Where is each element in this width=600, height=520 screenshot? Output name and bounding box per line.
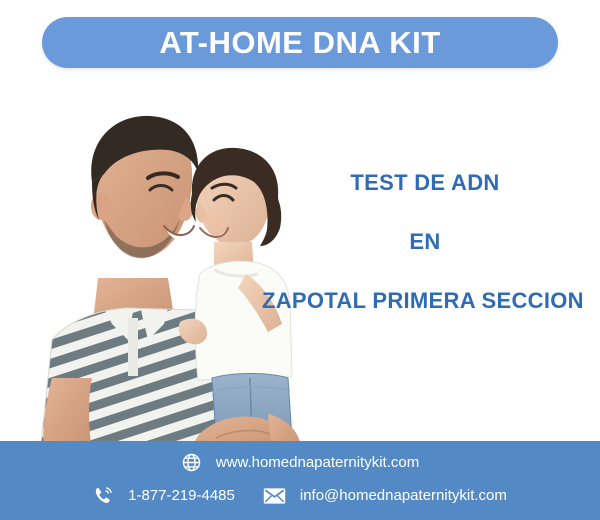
headline-block: TEST DE ADN EN ZAPOTAL PRIMERA SECCION <box>250 160 600 320</box>
headline-line-1: TEST DE ADN <box>250 170 600 196</box>
globe-icon <box>181 452 202 473</box>
website-text: www.homednapaternitykit.com <box>216 454 419 471</box>
banner-title: AT-HOME DNA KIT <box>159 25 440 61</box>
envelope-icon <box>263 487 286 505</box>
family-photo <box>0 78 300 453</box>
footer-website-row: www.homednapaternitykit.com <box>0 452 600 473</box>
phone-text: 1-877-219-4485 <box>128 487 235 504</box>
headline-line-3: ZAPOTAL PRIMERA SECCION <box>262 288 584 314</box>
email-item[interactable]: info@homednapaternitykit.com <box>263 487 507 505</box>
flyer-canvas: AT-HOME DNA KIT <box>0 0 600 520</box>
phone-item[interactable]: 1-877-219-4485 <box>93 485 235 506</box>
contact-footer: www.homednapaternitykit.com 1-877-219-44… <box>0 441 600 520</box>
website-item[interactable]: www.homednapaternitykit.com <box>181 452 419 473</box>
headline-line-2: EN <box>250 229 600 255</box>
footer-contact-row: 1-877-219-4485 info@homednapaternitykit.… <box>0 485 600 506</box>
phone-icon <box>93 485 114 506</box>
banner-pill: AT-HOME DNA KIT <box>42 17 558 68</box>
family-photo-illustration <box>0 78 300 453</box>
email-text: info@homednapaternitykit.com <box>300 487 507 504</box>
